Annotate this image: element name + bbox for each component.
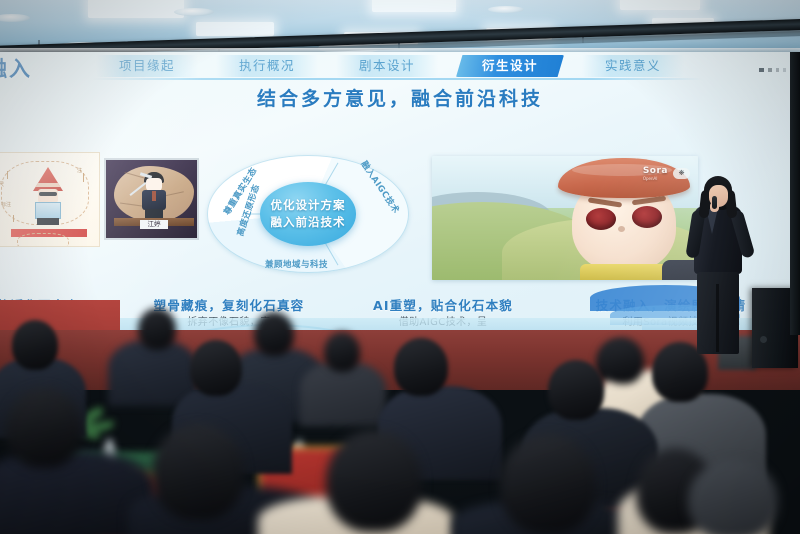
donut-center-line2: 融入前沿技术 (270, 214, 345, 230)
attendee-head (190, 340, 242, 396)
sora-watermark: Sora OpenAI ❋ (643, 166, 690, 181)
tab-derivative-design[interactable]: 衍生设计 (456, 55, 564, 77)
slide-tab-bar: 项目缘起 执行概况 剧本设计 衍生设计 实践意义 (88, 55, 708, 79)
sora-subtext: OpenAI (643, 176, 668, 181)
sketch-name-label: 江婷 (140, 220, 168, 229)
tab-practical-meaning[interactable]: 实践意义 (582, 55, 684, 77)
donut-label-region: 兼顾地域与科技 (265, 258, 328, 270)
progress-dot (776, 68, 779, 72)
attendee-head (394, 338, 448, 396)
donut-center-line1: 优化设计方案 (270, 197, 345, 213)
ceiling-dome-light (488, 6, 524, 13)
ceiling-dome-light (0, 14, 30, 22)
ceiling-light-panel (372, 0, 456, 12)
mascot-nose (618, 226, 625, 232)
gnome-character-illustration (31, 167, 65, 225)
projection-screen: 融入 项目缘起 执行概况 剧本设计 衍生设计 实践意义 结合多方意见，融合前沿科… (0, 52, 800, 335)
ai-render-preview: Sora OpenAI ❋ (432, 156, 698, 280)
attendee-head (326, 430, 422, 532)
ceiling-light-panel (620, 0, 700, 10)
gnome-legs (37, 218, 59, 225)
slide-header: 融入 项目缘起 执行概况 剧本设计 衍生设计 实践意义 (0, 52, 800, 82)
attendee-head (548, 360, 604, 420)
mascot-eye (632, 206, 662, 228)
slide-header-title: 融入 (0, 53, 32, 83)
pickaxe-handle (130, 182, 147, 196)
miner-illustration-card: 江婷 (104, 158, 199, 240)
progress-dot (759, 68, 764, 72)
gnome-hat (33, 167, 63, 191)
ceiling (0, 0, 800, 55)
attendee-head (324, 332, 360, 372)
attendee-head (602, 338, 644, 384)
screen-right-bezel (790, 52, 800, 335)
tab-execution-overview[interactable]: 执行概况 (216, 55, 318, 77)
ceiling-dome-light (174, 8, 214, 16)
sketch-tick (13, 215, 14, 222)
ceiling-light-panel (88, 0, 184, 18)
character-sketch-card: 尺 标注 注 (0, 152, 100, 247)
attendee-head (254, 312, 294, 356)
attendee-head (652, 342, 708, 402)
attendee-head (6, 388, 82, 468)
sketch-tick (7, 171, 8, 179)
progress-dot (783, 68, 786, 72)
donut-center-callout: 优化设计方案 融入前沿技术 (260, 182, 357, 246)
slide-progress-dots[interactable] (759, 68, 786, 72)
mascot-eye (586, 208, 616, 230)
microphone (712, 196, 717, 209)
miner-tie (152, 191, 156, 201)
tab-script-design[interactable]: 剧本设计 (336, 55, 438, 77)
sora-wordmark: Sora OpenAI (643, 166, 668, 181)
tab-project-origin[interactable]: 项目缘起 (96, 55, 198, 77)
sketch-tick (83, 173, 84, 182)
gnome-body (35, 202, 61, 219)
gnome-eye-mask (39, 192, 57, 196)
attendee-head (688, 460, 778, 534)
attendee-head (152, 424, 244, 520)
attendee-head (138, 308, 176, 350)
sketch-annotation-arc (17, 233, 69, 247)
pickaxe-icon (126, 174, 150, 194)
tab-underline (92, 78, 702, 80)
progress-dot (768, 68, 772, 72)
ceiling-light-panel (196, 22, 274, 36)
mascot-collar (580, 264, 670, 280)
screenshot-root: 融入 项目缘起 执行概况 剧本设计 衍生设计 实践意义 结合多方意见，融合前沿科… (0, 0, 800, 534)
slide-title: 结合多方意见，融合前沿科技 (0, 84, 800, 111)
strategy-donut-diagram: 尊重真实生态 高度还原形态 融入AIGC技术 兼顾地域与科技 优化设计方案 融入… (207, 155, 409, 273)
audience (0, 300, 800, 534)
attendee-head (12, 320, 58, 370)
attendee-head (500, 434, 596, 534)
